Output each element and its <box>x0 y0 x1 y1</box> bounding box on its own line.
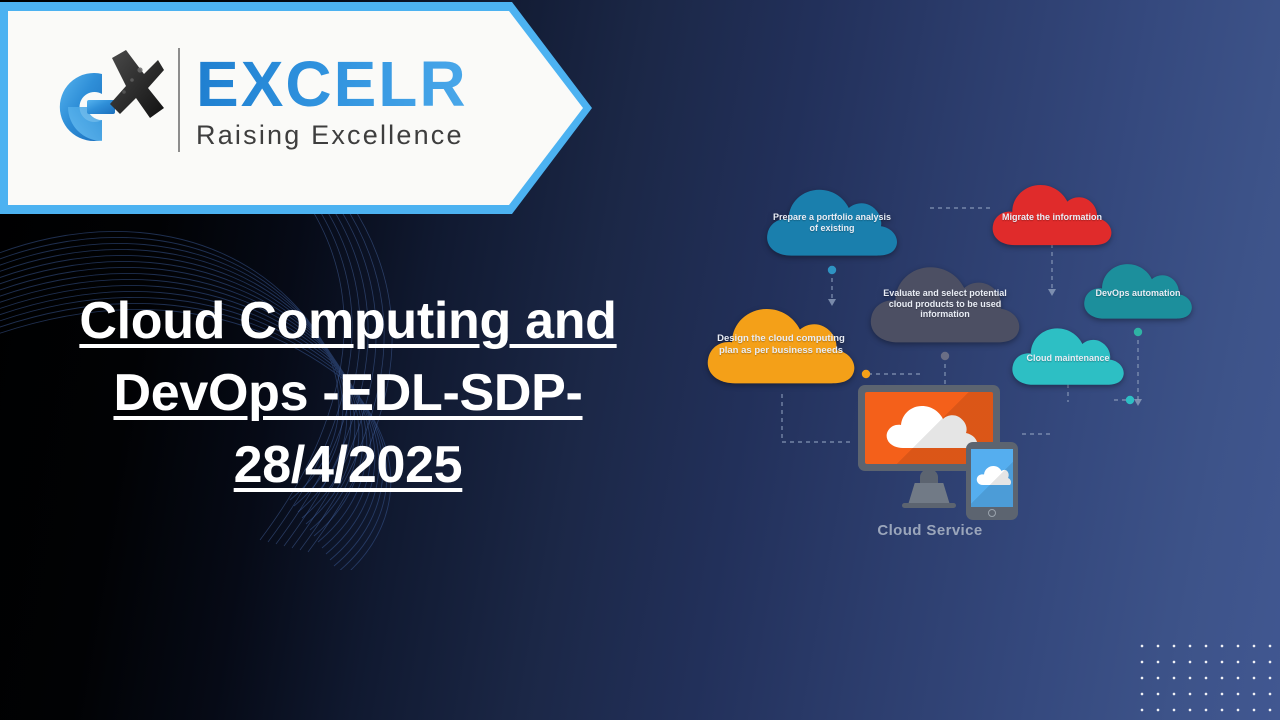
monitor-stand <box>908 483 950 505</box>
cloud-node-design-cloud-plan[interactable]: Design the cloud computing plan as per b… <box>702 298 860 392</box>
cloud-label-evaluate-select: Evaluate and select potential cloud prod… <box>873 288 1017 321</box>
cloud-service-caption: Cloud Service <box>810 522 1050 539</box>
cloud-label-cloud-maintenance: Cloud maintenance <box>1026 353 1109 364</box>
cloud-node-cloud-maintenance[interactable]: Cloud maintenance <box>1008 320 1128 396</box>
excelr-logo-icon <box>40 40 172 160</box>
cloud-label-design-cloud-plan: Design the cloud computing plan as per b… <box>710 333 852 356</box>
cloud-label-migrate-information: Migrate the information <box>1002 212 1102 223</box>
cloud-node-evaluate-select[interactable]: Evaluate and select potential cloud prod… <box>865 256 1025 352</box>
cloud-node-devops-automation[interactable]: DevOps automation <box>1080 256 1196 330</box>
logo-wordmark: EXCELR <box>196 52 468 116</box>
slide-title: Cloud Computing and DevOps -EDL-SDP- 28/… <box>42 286 654 501</box>
logo-tagline: Raising Excellence <box>196 122 468 149</box>
cloud-service-tablet <box>966 442 1018 520</box>
cloud-node-migrate-information[interactable]: Migrate the information <box>988 176 1116 258</box>
cloud-service-monitor <box>858 385 1000 503</box>
cloud-devops-infographic: Prepare a portfolio analysis of existing… <box>690 170 1250 590</box>
presentation-slide: EXCELR Raising Excellence Cloud Computin… <box>0 0 1280 720</box>
monitor-foot <box>902 503 956 508</box>
tablet-screen <box>971 449 1013 507</box>
tablet-home-button <box>988 509 996 517</box>
cloud-label-devops-automation: DevOps automation <box>1095 288 1180 299</box>
cloud-label-prepare-portfolio: Prepare a portfolio analysis of existing <box>770 212 894 234</box>
excelr-logo-banner: EXCELR Raising Excellence <box>0 2 592 214</box>
dot-grid-decoration <box>1130 634 1280 720</box>
logo-divider <box>178 48 180 152</box>
monitor-neck <box>920 469 938 485</box>
cloud-node-prepare-portfolio[interactable]: Prepare a portfolio analysis of existing <box>762 180 902 266</box>
